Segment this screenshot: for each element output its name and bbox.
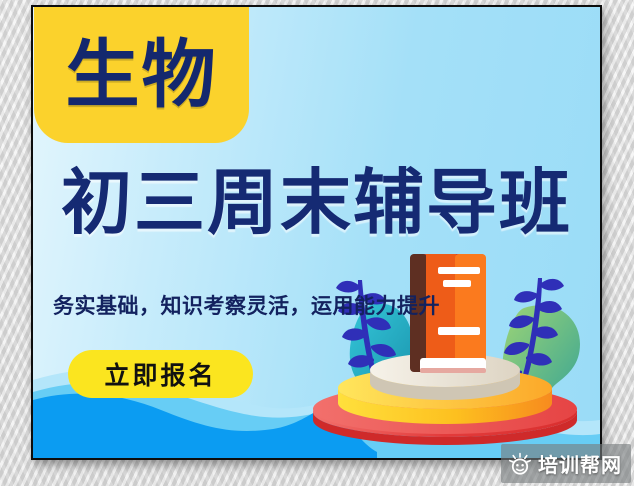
sun-face-icon <box>508 452 532 476</box>
watermark: 培训帮网 <box>501 444 631 483</box>
illustration-stage <box>288 242 602 458</box>
page-title: 初三周末辅导班 <box>31 167 602 238</box>
subject-badge-label: 生物 <box>66 38 218 112</box>
subject-badge: 生物 <box>34 7 249 143</box>
enroll-now-button-label: 立即报名 <box>104 356 216 392</box>
subtitle-text: 务实基础，知识考察灵活，运用能力提升 <box>53 294 440 319</box>
watermark-label: 培训帮网 <box>538 449 622 478</box>
enroll-now-button[interactable]: 立即报名 <box>68 350 253 398</box>
poster-canvas: 生物 初三周末辅导班 务实基础，知识考察灵活，运用能力提升 立即报名 <box>31 5 602 460</box>
